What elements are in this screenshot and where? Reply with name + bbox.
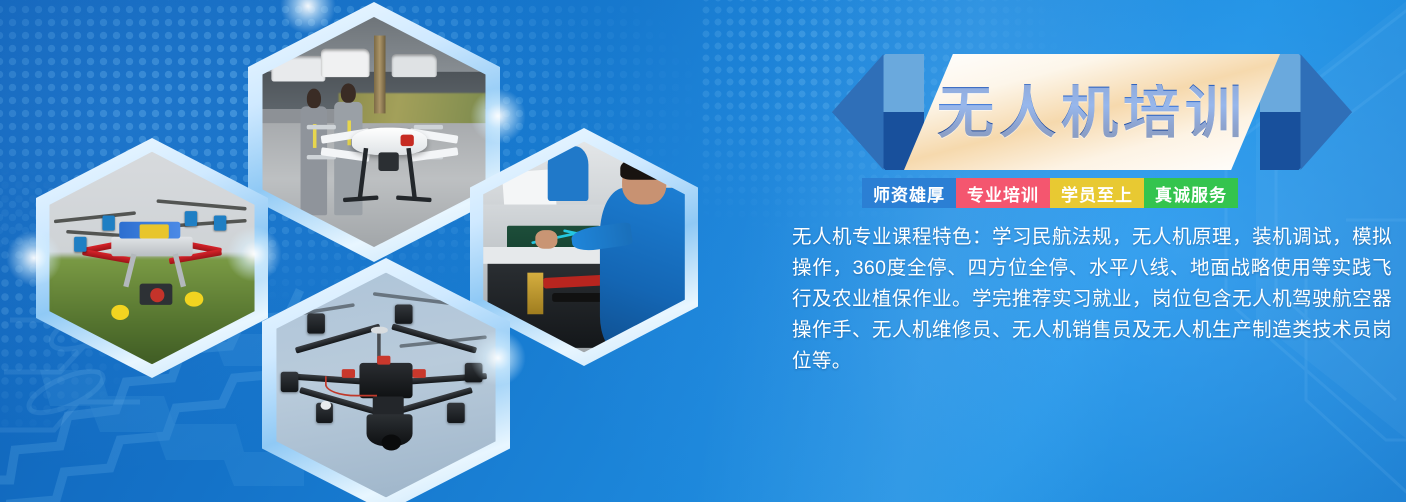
- banner-text-column: 无人机培训 师资雄厚 专业培训 学员至上 真诚服务 无人机专业课程特色：学习民航…: [780, 0, 1406, 502]
- badge-sincere-service[interactable]: 真诚服务: [1144, 178, 1238, 208]
- drone-training-banner: 无人机培训 师资雄厚 专业培训 学员至上 真诚服务 无人机专业课程特色：学习民航…: [0, 0, 1406, 502]
- hex-corner-glow: [226, 226, 282, 282]
- title-wing-right: [1260, 54, 1352, 170]
- title-banner: 无人机培训: [832, 54, 1352, 170]
- hex-photo-drone-students-pavement: [248, 2, 500, 262]
- title-plate: 无人机培训: [904, 54, 1280, 170]
- hex-corner-glow: [470, 330, 526, 386]
- badge-students-first[interactable]: 学员至上: [1050, 178, 1144, 208]
- page-title: 无人机培训: [937, 84, 1247, 141]
- feature-badge-row: 师资雄厚 专业培训 学员至上 真诚服务: [862, 178, 1238, 208]
- badge-professional-training[interactable]: 专业培训: [956, 178, 1050, 208]
- title-wing-left: [832, 54, 924, 170]
- badge-instructors[interactable]: 师资雄厚: [862, 178, 956, 208]
- hex-corner-glow: [470, 88, 526, 144]
- hexagon-photo-cluster: [0, 0, 720, 502]
- hex-photo-hexacopter-in-sky: [262, 258, 510, 502]
- course-description: 无人机专业课程特色：学习民航法规，无人机原理，装机调试，模拟操作，360度全停、…: [792, 222, 1392, 377]
- hex-corner-glow: [6, 230, 62, 286]
